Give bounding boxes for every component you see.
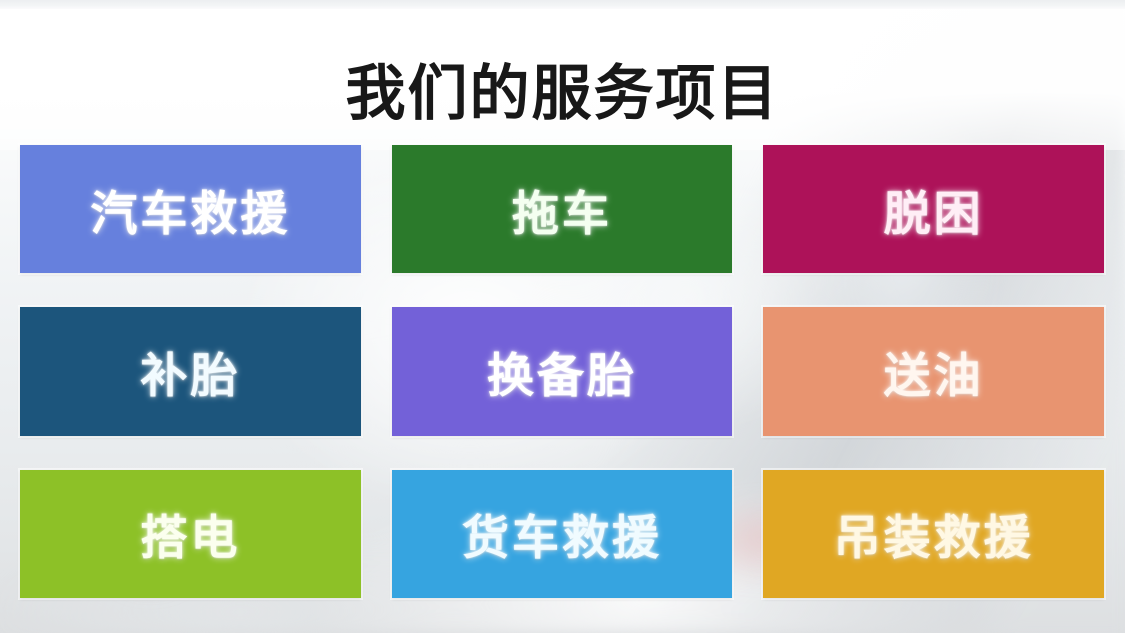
service-tile-fuel-delivery[interactable]: 送油 (763, 307, 1104, 435)
service-poster: 我们的服务项目 汽车救援拖车脱困补胎换备胎送油搭电货车救援吊装救援 (0, 0, 1125, 633)
service-tile-label: 脱困 (884, 175, 984, 244)
poster-content: 我们的服务项目 汽车救援拖车脱困补胎换备胎送油搭电货车救援吊装救援 (0, 0, 1125, 633)
service-tile-label: 送油 (884, 337, 984, 406)
service-tile-label: 换备胎 (487, 337, 637, 406)
service-tile-spare-tire-change[interactable]: 换备胎 (392, 307, 733, 435)
service-tile-label: 补胎 (140, 337, 240, 406)
service-tile-label: 吊装救援 (834, 499, 1034, 568)
service-tile-label: 搭电 (140, 499, 240, 568)
service-tile-roadside-assistance[interactable]: 汽车救援 (20, 145, 361, 273)
service-tile-tire-repair[interactable]: 补胎 (20, 307, 361, 435)
service-tile-label: 货车救援 (462, 499, 662, 568)
page-title: 我们的服务项目 (0, 62, 1125, 127)
service-tile-grid: 汽车救援拖车脱困补胎换备胎送油搭电货车救援吊装救援 (20, 145, 1104, 598)
service-tile-label: 拖车 (512, 175, 612, 244)
service-tile-label: 汽车救援 (90, 175, 290, 244)
service-tile-towing[interactable]: 拖车 (392, 145, 733, 273)
service-tile-truck-rescue[interactable]: 货车救援 (392, 470, 733, 598)
service-tile-crane-rescue[interactable]: 吊装救援 (763, 470, 1104, 598)
service-tile-extraction[interactable]: 脱困 (763, 145, 1104, 273)
service-tile-jump-start[interactable]: 搭电 (20, 470, 361, 598)
